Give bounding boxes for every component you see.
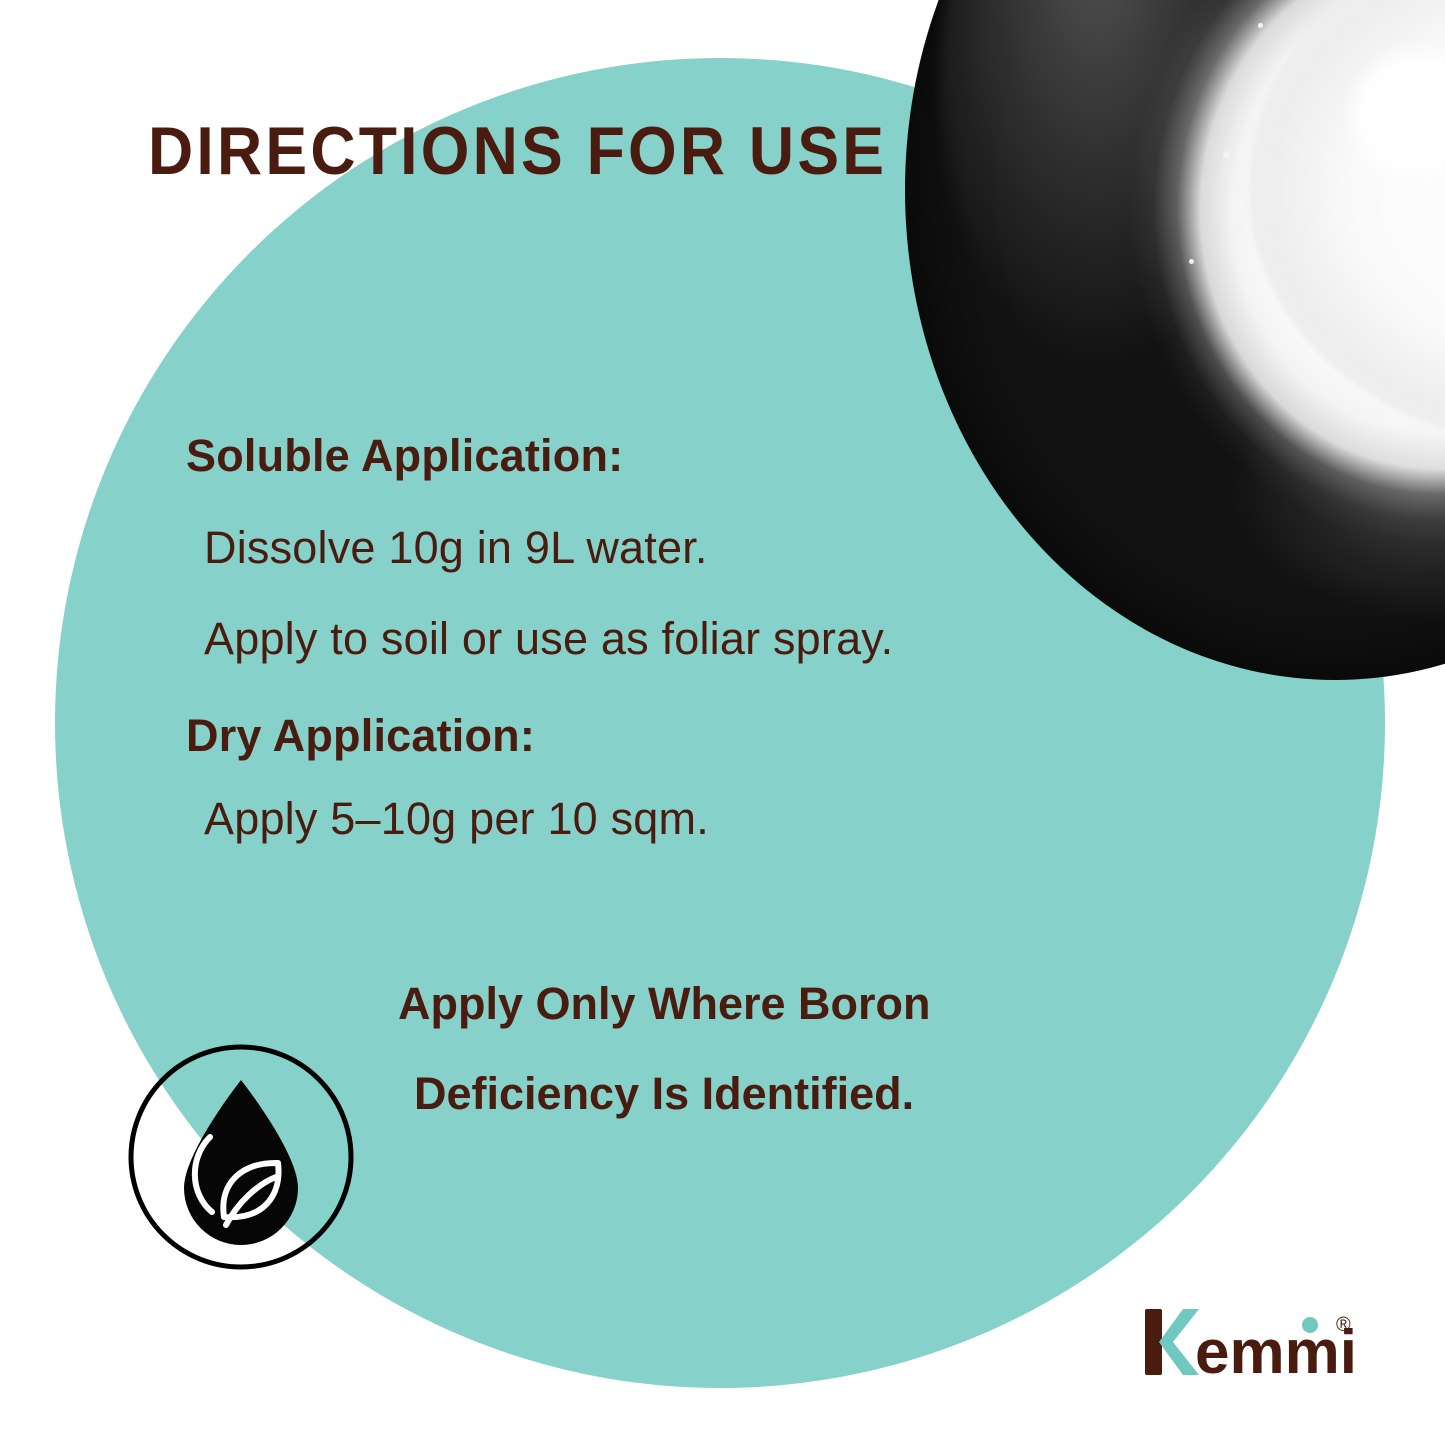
kemmie-logo[interactable]: emmie ® xyxy=(1143,1303,1358,1381)
callout-line-2: Deficiency Is Identified. xyxy=(414,1068,914,1120)
soluble-application-line-2: Apply to soil or use as foliar spray. xyxy=(204,613,893,665)
dry-application-line-1: Apply 5–10g per 10 sqm. xyxy=(204,793,709,845)
logo-trademark: ® xyxy=(1336,1314,1351,1336)
logo-i-dot-icon xyxy=(1302,1317,1318,1333)
soluble-application-line-1: Dissolve 10g in 9L water. xyxy=(204,522,708,574)
water-drop-leaf-badge xyxy=(126,1042,356,1272)
poster-canvas: DIRECTIONS FOR USE Soluble Application: … xyxy=(0,0,1445,1445)
logo-k-chevron-icon xyxy=(1159,1309,1199,1375)
soluble-application-heading: Soluble Application: xyxy=(186,430,623,482)
kemmie-logo-icon: emmie ® xyxy=(1143,1303,1358,1381)
callout-line-1: Apply Only Where Boron xyxy=(398,978,931,1030)
logo-wordmark: emmie xyxy=(1195,1318,1358,1381)
dry-application-heading: Dry Application: xyxy=(186,710,535,762)
water-drop-leaf-icon xyxy=(126,1042,356,1272)
